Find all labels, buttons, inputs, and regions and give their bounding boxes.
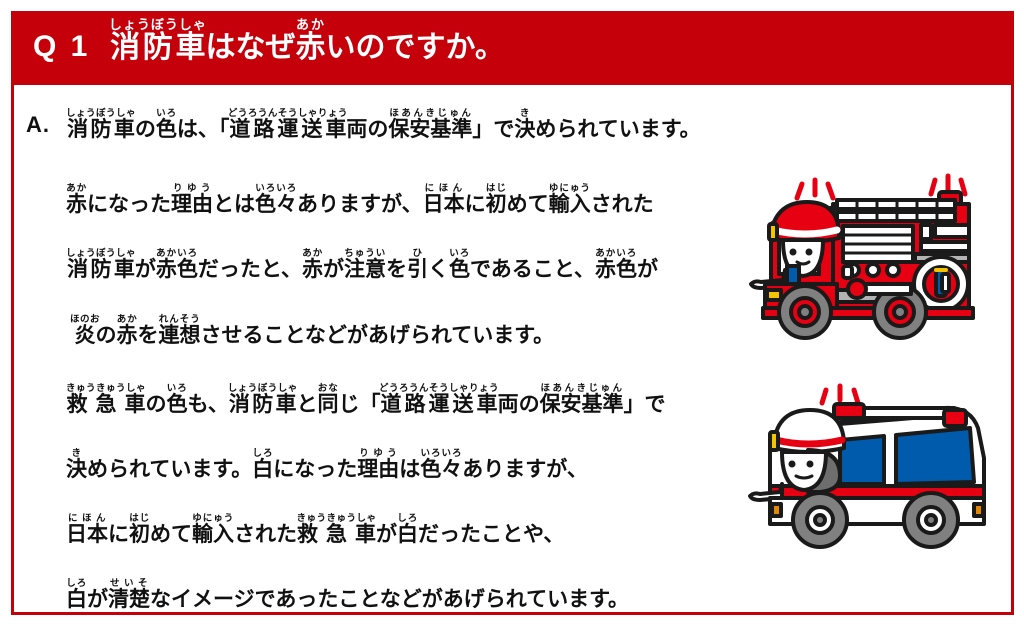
rt-riyuu: りゆう bbox=[171, 183, 213, 194]
seg-ki: 決き bbox=[514, 118, 535, 141]
rt-shoubousha: しょうぼうしゃ bbox=[66, 108, 136, 119]
seg-plain: が bbox=[135, 258, 156, 281]
seg-yunyuu: 輸入ゆにゅう bbox=[192, 523, 234, 546]
rt-iroiro: いろいろ bbox=[255, 183, 297, 194]
seg-plain: に bbox=[465, 193, 486, 216]
seg-plain: を bbox=[386, 258, 407, 281]
rt-haji: はじ bbox=[486, 183, 507, 194]
seg-iro: 色いろ bbox=[449, 258, 470, 281]
seg-plain: 」で bbox=[624, 393, 666, 416]
seg-kyuukyuusha: 救 急 車きゅうきゅうしゃ bbox=[66, 393, 145, 416]
rt-yunyuu: ゆにゅう bbox=[192, 513, 234, 524]
seg-plain: された bbox=[591, 193, 654, 216]
rt-iro: いろ bbox=[156, 108, 177, 119]
seg-shoubousha: 消防車しょうぼうしゃ bbox=[229, 393, 297, 416]
window-rear bbox=[896, 428, 974, 484]
seg-plain: めて bbox=[150, 523, 192, 546]
seg-shiro: 白しろ bbox=[252, 458, 273, 481]
ambulance-illustration bbox=[748, 370, 1010, 550]
seg-ona: 同おな bbox=[318, 393, 339, 416]
seg-plain: させることなどがあげられています。 bbox=[201, 324, 555, 347]
seg-plain: と bbox=[297, 393, 318, 416]
helmet-stripe bbox=[773, 230, 837, 234]
firefighter-collar bbox=[787, 266, 799, 284]
seg-riyuu: 理由りゆう bbox=[357, 458, 399, 481]
seg-kyuukyuusha: 救 急 車きゅうきゅうしゃ bbox=[297, 523, 376, 546]
seg-ryou: 両 bbox=[346, 118, 367, 141]
seg-plain: された bbox=[234, 523, 297, 546]
rt-seiso: せいそ bbox=[108, 578, 150, 589]
front-marker-light bbox=[767, 290, 781, 300]
helmet-badge bbox=[769, 224, 777, 240]
seg-plain: であること、 bbox=[470, 258, 595, 281]
seg-nihon: 日本にほん bbox=[66, 523, 108, 546]
hose-connector bbox=[848, 280, 911, 298]
seg-haji: 初はじ bbox=[129, 523, 150, 546]
title-segment-plain-2: いのですか。 bbox=[325, 31, 504, 64]
answer-line-8: 白しろが清楚せいそなイメージであったことなどがあげられています。 bbox=[66, 578, 629, 610]
seg-hi: 引ひ bbox=[407, 258, 428, 281]
rt-hoankijun: ほあんきじゅん bbox=[388, 108, 472, 119]
rt-akairo-2: あかいろ bbox=[595, 248, 637, 259]
paramedic-eye-right bbox=[807, 461, 814, 468]
body-knobs bbox=[843, 264, 899, 278]
seg-plain: も、 bbox=[187, 393, 228, 416]
seg-dourounsou: 道路運送車どうろうんそうしゃりょう bbox=[381, 393, 498, 416]
title-segment-shoubousha: 消防車しょうぼうしゃ bbox=[109, 31, 206, 64]
paramedic-eye-left bbox=[789, 461, 796, 468]
helmet-stripe bbox=[776, 440, 842, 444]
seg-riyuu: 理由りゆう bbox=[171, 193, 213, 216]
rt-dourounsou: どうろうんそうしゃりょう bbox=[379, 383, 499, 394]
seg-seiso: 清楚せいそ bbox=[108, 588, 150, 611]
firefighter-eye-right bbox=[806, 249, 813, 256]
rt-ona: おな bbox=[318, 383, 339, 394]
seg-shiro: 白しろ bbox=[397, 523, 418, 546]
seg-plain: に bbox=[108, 523, 129, 546]
fire-truck-illustration bbox=[745, 162, 1010, 342]
seg-iroiro: 色々いろいろ bbox=[255, 193, 297, 216]
seg-plain: とは bbox=[213, 193, 255, 216]
seg-plain: ありますが、 bbox=[297, 193, 423, 216]
rt-iroiro: いろいろ bbox=[420, 448, 462, 459]
seg-plain: なイメージであったことなどがあげられています。 bbox=[150, 588, 629, 611]
seg-shoubousha: 消防車しょうぼうしゃ bbox=[66, 118, 135, 141]
seg-shiro: 白しろ bbox=[66, 588, 87, 611]
rt-nihon: にほん bbox=[423, 183, 465, 194]
seg-plain: じ「 bbox=[339, 393, 381, 416]
seg-iro: 色いろ bbox=[166, 393, 187, 416]
wheel-front bbox=[779, 286, 831, 338]
seg-aka: 赤あか bbox=[302, 258, 323, 281]
paramedic-face bbox=[782, 452, 826, 490]
rt-hi: ひ bbox=[407, 248, 428, 259]
seg-plain: の bbox=[96, 324, 117, 347]
rt-shiro: しろ bbox=[66, 578, 87, 589]
rt-iro: いろ bbox=[449, 248, 470, 259]
seg-plain: められています。 bbox=[87, 458, 252, 481]
rt-honoo: ほのお bbox=[70, 314, 100, 325]
rt-iro: いろ bbox=[166, 383, 187, 394]
seg-hoankijun: 保安基準ほあんきじゅん bbox=[388, 118, 472, 141]
seg-plain: の bbox=[145, 393, 166, 416]
seg-iroiro: 色々いろいろ bbox=[420, 458, 462, 481]
marker-light-rear bbox=[974, 504, 983, 516]
seg-shoubousha: 消防車しょうぼうしゃ bbox=[66, 258, 135, 281]
seg-plain: は bbox=[399, 458, 420, 481]
beacon-right bbox=[944, 410, 966, 426]
rt-riyuu: りゆう bbox=[357, 448, 399, 459]
seg-plain: の bbox=[135, 118, 156, 141]
question-number-label: Q 1 bbox=[33, 30, 90, 66]
seg-rensou: 連想れんそう bbox=[159, 324, 201, 347]
rt-akairo: あかいろ bbox=[156, 248, 198, 259]
firefighter-eye-left bbox=[790, 249, 797, 256]
rt-rensou: れんそう bbox=[159, 314, 201, 325]
rt-shoubousha: しょうぼうしゃ bbox=[228, 383, 298, 394]
rt-shiro: しろ bbox=[252, 448, 273, 459]
rt-hoankijun: ほあんきじゅん bbox=[540, 383, 624, 394]
answer-line-3: 消防車しょうぼうしゃが赤色あかいろだったと、赤あかが注意ちゅういを引ひく色いろで… bbox=[66, 248, 658, 280]
seg-plain: 」で bbox=[472, 118, 514, 141]
seg-dourounsou: 道路運送車どうろうんそうしゃりょう bbox=[229, 118, 346, 141]
seg-plain: められています。 bbox=[535, 118, 700, 141]
answer-line-1: 消防車しょうぼうしゃの色いろは、「道路運送車どうろうんそうしゃりょう両の保安基準… bbox=[66, 108, 701, 140]
seg-plain: ありますが、 bbox=[462, 458, 588, 481]
rt-kyuukyuusha: きゅうきゅうしゃ bbox=[66, 383, 146, 394]
siren-beam-left bbox=[797, 180, 833, 198]
seg-yunyuu: 輸入ゆにゅう bbox=[549, 193, 591, 216]
seg-ryou: 両 bbox=[498, 393, 519, 416]
seg-akairo: 赤色あかいろ bbox=[156, 258, 198, 281]
rt-chuui: ちゅうい bbox=[344, 248, 386, 259]
ruby-shoubousha: しょうぼうしゃ bbox=[109, 17, 207, 32]
answer-line-7: 日本にほんに初はじめて輸入ゆにゅうされた救 急 車きゅうきゅうしゃが白しろだった… bbox=[66, 513, 564, 545]
seg-plain: の bbox=[519, 393, 540, 416]
rt-haji: はじ bbox=[129, 513, 150, 524]
seg-plain: になった bbox=[87, 193, 171, 216]
seg-haji: 初はじ bbox=[486, 193, 507, 216]
rt-ki: き bbox=[66, 448, 87, 459]
seg-plain: めて bbox=[507, 193, 549, 216]
answer-label: A. bbox=[26, 112, 50, 138]
seg-honoo: 炎ほのお bbox=[70, 324, 96, 347]
seg-plain: になった bbox=[273, 458, 357, 481]
seg-iro: 色いろ bbox=[156, 118, 177, 141]
rt-aka: あか bbox=[302, 248, 323, 259]
answer-line-2: 赤あかになった理由りゆうとは色々いろいろありますが、日本にほんに初はじめて輸入ゆ… bbox=[66, 183, 654, 215]
seg-plain: が bbox=[323, 258, 344, 281]
seg-plain: が bbox=[376, 523, 397, 546]
seg-plain: の bbox=[367, 118, 388, 141]
seg-hoankijun: 保安基準ほあんきじゅん bbox=[540, 393, 624, 416]
window-front bbox=[840, 436, 884, 484]
title-segment-aka: 赤あか bbox=[295, 31, 325, 64]
rt-dourounsou: どうろうんそうしゃりょう bbox=[228, 108, 348, 119]
answer-line-5: 救 急 車きゅうきゅうしゃの色いろも、消防車しょうぼうしゃと同おなじ「道路運送車… bbox=[66, 383, 666, 415]
helmet-badge bbox=[770, 432, 778, 450]
rt-ki: き bbox=[514, 108, 535, 119]
seg-plain: だったことや、 bbox=[418, 523, 564, 546]
question-header-band: Q 1 消防車しょうぼうしゃはなぜ赤あかいのですか。 bbox=[11, 11, 1014, 85]
rt-shiro: しろ bbox=[397, 513, 418, 524]
rt-yunyuu: ゆにゅう bbox=[549, 183, 591, 194]
seg-chuui: 注意ちゅうい bbox=[344, 258, 386, 281]
wheel-rear bbox=[904, 493, 958, 547]
seg-aka: 赤あか bbox=[66, 193, 87, 216]
wheel-front bbox=[793, 493, 847, 547]
seg-plain: が bbox=[87, 588, 108, 611]
rt-nihon: にほん bbox=[66, 513, 108, 524]
seg-akairo-2: 赤色あかいろ bbox=[595, 258, 637, 281]
seg-plain: を bbox=[138, 324, 159, 347]
rt-kyuukyuusha: きゅうきゅうしゃ bbox=[296, 513, 376, 524]
title-segment-plain-1: はなぜ bbox=[205, 31, 295, 64]
seg-plain: く bbox=[428, 258, 449, 281]
seg-plain: だったと、 bbox=[198, 258, 302, 281]
page-root: Q 1 消防車しょうぼうしゃはなぜ赤あかいのですか。 A. 消防車しょうぼうしゃ… bbox=[0, 0, 1024, 626]
rt-aka: あか bbox=[117, 314, 138, 325]
rt-shoubousha: しょうぼうしゃ bbox=[66, 248, 136, 259]
marker-light-front bbox=[772, 504, 781, 516]
beacon-left bbox=[834, 404, 864, 418]
question-title: 消防車しょうぼうしゃはなぜ赤あかいのですか。 bbox=[109, 31, 505, 64]
answer-line-4: 炎ほのおの赤あかを連想れんそうさせることなどがあげられています。 bbox=[70, 314, 554, 346]
siren-beam bbox=[822, 386, 858, 403]
seg-plain: は、「 bbox=[177, 118, 230, 141]
seg-plain: が bbox=[637, 258, 658, 281]
question-header-text: Q 1 消防車しょうぼうしゃはなぜ赤あかいのですか。 bbox=[33, 17, 505, 66]
answer-line-6: 決きめられています。白しろになった理由りゆうは色々いろいろありますが、 bbox=[66, 448, 588, 480]
ruby-aka: あか bbox=[295, 17, 325, 32]
seg-aka: 赤あか bbox=[117, 324, 138, 347]
rt-aka: あか bbox=[66, 183, 87, 194]
seg-ki: 決き bbox=[66, 458, 87, 481]
seg-nihon: 日本にほん bbox=[423, 193, 465, 216]
